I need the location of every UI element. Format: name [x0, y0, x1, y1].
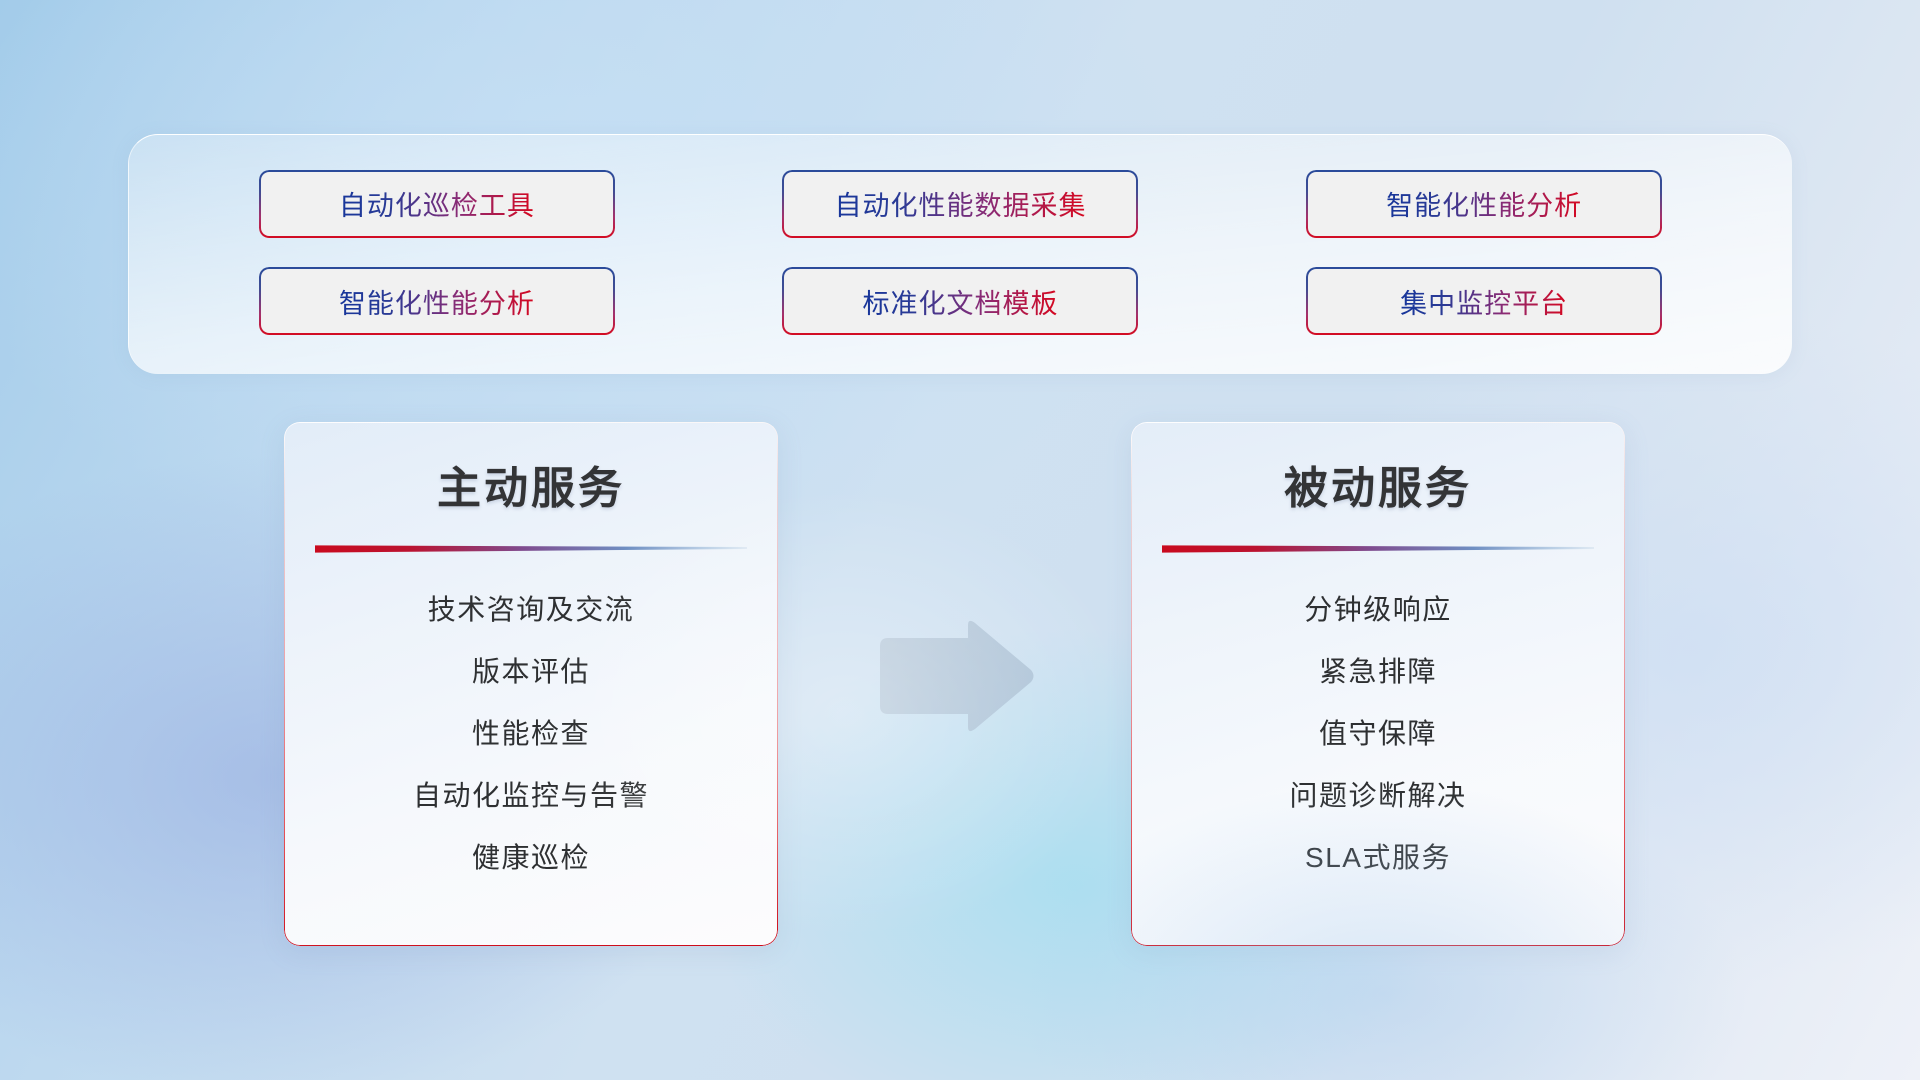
title-divider [1162, 544, 1594, 553]
capability-chip-label: 智能化性能分析 [339, 282, 535, 321]
list-item: 分钟级响应 [1304, 579, 1452, 641]
arrow-right-icon [876, 620, 1036, 732]
capability-chip-label: 标准化文档模板 [862, 282, 1058, 321]
capability-chip-label: 自动化巡检工具 [339, 184, 535, 223]
service-card-reactive[interactable]: 被动服务 [1131, 422, 1625, 946]
capability-chip-3[interactable]: 智能化性能分析 [1306, 170, 1662, 238]
capabilities-panel: 自动化巡检工具 自动化性能数据采集 智能化性能分析 智能化性能分析 标准化文档模… [128, 134, 1792, 374]
capability-chip-4[interactable]: 智能化性能分析 [259, 267, 615, 335]
service-card-body: 被动服务 [1131, 422, 1625, 946]
service-item-list: 技术咨询及交流 版本评估 性能检查 自动化监控与告警 健康巡检 [284, 579, 778, 889]
service-item-list: 分钟级响应 紧急排障 值守保障 问题诊断解决 SLA式服务 [1131, 579, 1625, 889]
list-item: 性能检查 [472, 703, 590, 765]
service-card-title: 主动服务 [437, 452, 625, 516]
slide-canvas: 自动化巡检工具 自动化性能数据采集 智能化性能分析 智能化性能分析 标准化文档模… [0, 0, 1920, 1080]
list-item: 技术咨询及交流 [428, 579, 635, 641]
capability-chip-2[interactable]: 自动化性能数据采集 [782, 170, 1138, 238]
list-item: 紧急排障 [1319, 641, 1437, 703]
list-item: 问题诊断解决 [1289, 765, 1466, 827]
title-divider [315, 544, 747, 553]
list-item: 值守保障 [1319, 703, 1437, 765]
service-card-title: 被动服务 [1284, 452, 1472, 516]
service-card-proactive[interactable]: 主动服务 [284, 422, 778, 946]
capability-chip-1[interactable]: 自动化巡检工具 [259, 170, 615, 238]
list-item: SLA式服务 [1305, 827, 1451, 889]
list-item: 自动化监控与告警 [413, 765, 649, 827]
capability-chip-label: 自动化性能数据采集 [834, 184, 1086, 223]
capability-chip-label: 集中监控平台 [1400, 282, 1568, 321]
list-item: 健康巡检 [472, 827, 590, 889]
capability-chip-6[interactable]: 集中监控平台 [1306, 267, 1662, 335]
capability-chip-label: 智能化性能分析 [1386, 184, 1582, 223]
list-item: 版本评估 [472, 641, 590, 703]
service-card-body: 主动服务 [284, 422, 778, 946]
capability-chip-5[interactable]: 标准化文档模板 [782, 267, 1138, 335]
